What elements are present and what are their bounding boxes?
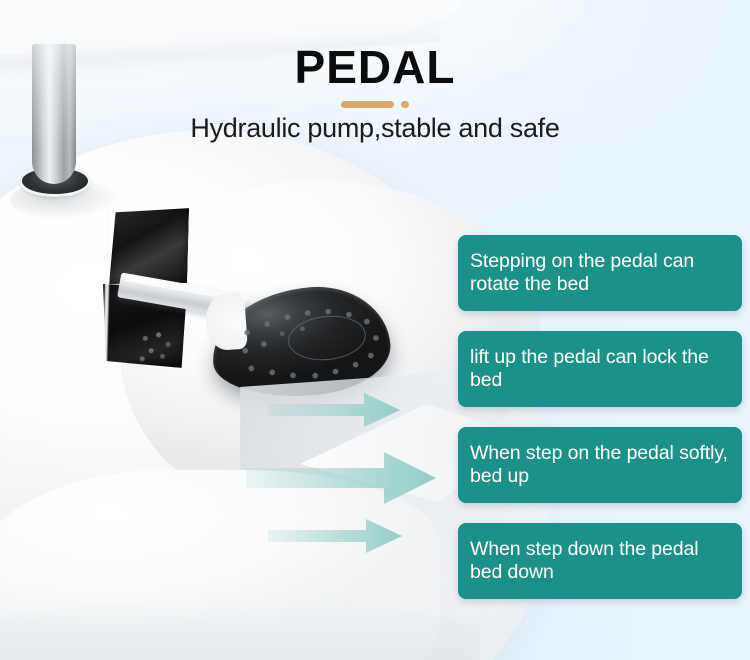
callout-bed-up[interactable]: When step on the pedal softly, bed up bbox=[458, 427, 742, 503]
page-title: PEDAL bbox=[0, 40, 750, 94]
product-feature-banner: PEDAL Hydraulic pump,stable and safe Ste… bbox=[0, 0, 750, 660]
divider-dot bbox=[401, 101, 409, 108]
callout-rotate[interactable]: Stepping on the pedal can rotate the bed bbox=[458, 235, 742, 311]
arrow-right-icon-2 bbox=[246, 452, 436, 504]
title-divider bbox=[0, 101, 750, 108]
callout-text: When step down the pedal bed down bbox=[470, 538, 730, 584]
callout-text: lift up the pedal can lock the bed bbox=[470, 346, 730, 392]
divider-bar bbox=[341, 101, 394, 108]
callout-text: When step on the pedal softly, bed up bbox=[470, 442, 730, 488]
callout-lock[interactable]: lift up the pedal can lock the bed bbox=[458, 331, 742, 407]
callout-text: Stepping on the pedal can rotate the bed bbox=[470, 250, 730, 296]
arrow-right-icon-1 bbox=[268, 393, 400, 427]
callout-bed-down[interactable]: When step down the pedal bed down bbox=[458, 523, 742, 599]
page-subtitle: Hydraulic pump,stable and safe bbox=[0, 113, 750, 144]
arrow-right-icon-3 bbox=[268, 519, 402, 553]
